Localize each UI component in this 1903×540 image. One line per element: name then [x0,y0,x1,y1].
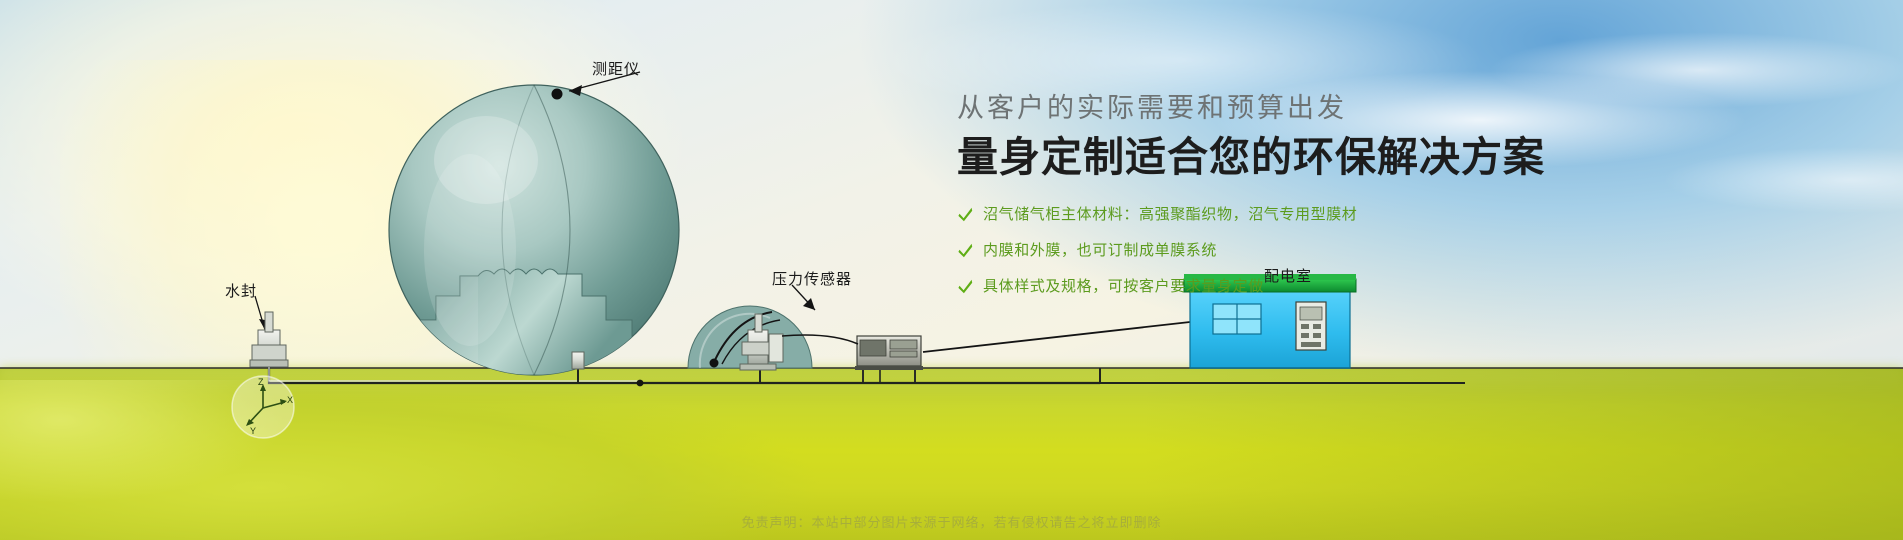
hero-banner: 测距仪 水封 压力传感器 配电室 Z X Y 从客户的实际需要和预算出发 量身定… [0,0,1903,540]
headline: 量身定制适合您的环保解决方案 [957,133,1657,181]
label-water-seal: 水封 [225,280,257,301]
list-item: 内膜和外膜，也可订制成单膜系统 [957,236,1657,265]
axis-label-x: X [287,395,293,405]
check-tick-icon [957,206,974,223]
list-item: 具体样式及规格，可按客户要求量身定做 [957,272,1657,301]
axis-label-z: Z [258,377,264,387]
gas-holder-dome [389,85,679,375]
list-item-label: 沼气储气柜主体材料：高强聚酯织物，沼气专用型膜材 [983,207,1357,222]
water-seal-unit [250,312,288,367]
subtitle: 从客户的实际需要和预算出发 [957,92,1657,124]
disclaimer-text: 免责声明：本站中部分图片来源于网络，若有侵权请告之将立即删除 [0,512,1903,531]
list-item-label: 内膜和外膜，也可订制成单膜系统 [983,243,1217,258]
label-pressure-sensor: 压力传感器 [772,268,852,289]
rangefinder-node [552,89,563,100]
label-rangefinder: 测距仪 [592,58,640,79]
list-item-label: 具体样式及规格，可按客户要求量身定做 [983,279,1264,294]
blower-skid [855,336,923,382]
marketing-copy-block: 从客户的实际需要和预算出发 量身定制适合您的环保解决方案 沼气储气柜主体材料：高… [957,92,1657,308]
check-tick-icon [957,278,974,295]
axis-orientation-badge: Z X Y [228,372,298,442]
buried-pipeline [269,352,1100,386]
list-item: 沼气储气柜主体材料：高强聚酯织物，沼气专用型膜材 [957,200,1657,229]
feature-bullet-list: 沼气储气柜主体材料：高强聚酯织物，沼气专用型膜材 内膜和外膜，也可订制成单膜系统… [957,200,1657,301]
signal-cable [923,322,1190,352]
axis-label-y: Y [250,426,256,436]
check-tick-icon [957,242,974,259]
